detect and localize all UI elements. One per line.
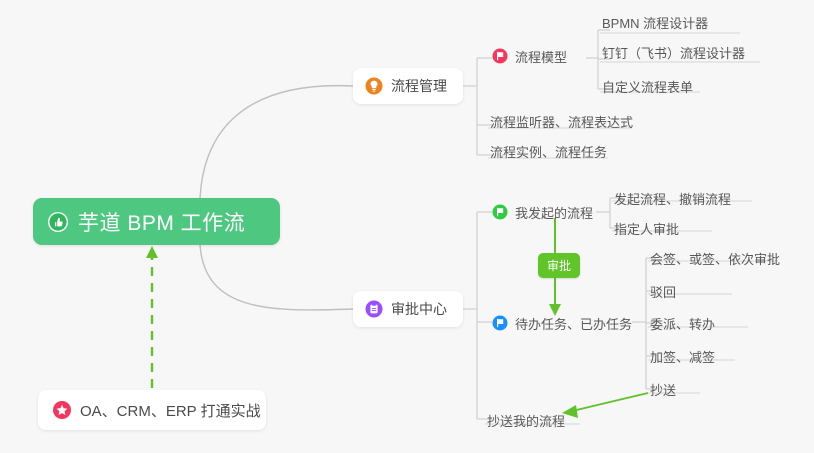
lightbulb-icon bbox=[365, 77, 383, 95]
leaf-process-instance[interactable]: 流程实例、流程任务 bbox=[490, 141, 607, 161]
branch-node-process-mgmt[interactable]: 流程管理 bbox=[353, 68, 463, 104]
leaf-label: 发起流程、撤销流程 bbox=[614, 189, 731, 208]
approval-tag-label: 审批 bbox=[547, 259, 571, 273]
flag-icon bbox=[492, 315, 508, 331]
leaf-label: 我发起的流程 bbox=[515, 203, 593, 222]
leaf-label: 流程模型 bbox=[515, 47, 567, 66]
star-icon bbox=[52, 400, 72, 420]
flag-icon bbox=[492, 204, 508, 220]
leaf-label: 自定义流程表单 bbox=[602, 77, 693, 96]
leaf-label: 抄送 bbox=[650, 380, 676, 399]
leaf-label: 流程实例、流程任务 bbox=[490, 142, 607, 161]
leaf-process-listener[interactable]: 流程监听器、流程表达式 bbox=[490, 111, 633, 131]
leaf-label: 驳回 bbox=[650, 282, 676, 301]
branch-node-approval-center[interactable]: 审批中心 bbox=[353, 291, 463, 327]
leaf-bpmn-designer[interactable]: BPMN 流程设计器 bbox=[602, 12, 708, 32]
leaf-carbon-copy[interactable]: 抄送 bbox=[650, 379, 676, 399]
thumbs-up-icon bbox=[47, 211, 69, 233]
leaf-label: 待办任务、已办任务 bbox=[515, 314, 632, 333]
leaf-label: 会签、或签、依次审批 bbox=[650, 249, 780, 268]
leaf-dingtalk-designer[interactable]: 钉钉（飞书）流程设计器 bbox=[602, 42, 745, 62]
leaf-process-model[interactable]: 流程模型 bbox=[492, 46, 567, 66]
note-icon bbox=[365, 300, 383, 318]
integration-node[interactable]: OA、CRM、ERP 打通实战 bbox=[38, 390, 266, 430]
leaf-label: 流程监听器、流程表达式 bbox=[490, 112, 633, 131]
leaf-label: BPMN 流程设计器 bbox=[602, 13, 708, 32]
branch-label-approval-center: 审批中心 bbox=[391, 299, 447, 319]
integration-label: OA、CRM、ERP 打通实战 bbox=[80, 400, 261, 421]
leaf-delegate-transfer[interactable]: 委派、转办 bbox=[650, 313, 715, 333]
mindmap-canvas: 芋道 BPM 工作流 流程管理 审批中心 bbox=[0, 0, 814, 453]
leaf-label: 指定人审批 bbox=[614, 219, 679, 238]
leaf-label: 钉钉（飞书）流程设计器 bbox=[602, 43, 745, 62]
leaf-label: 抄送我的流程 bbox=[487, 411, 565, 430]
leaf-label: 加签、减签 bbox=[650, 347, 715, 366]
leaf-add-remove-sign[interactable]: 加签、减签 bbox=[650, 346, 715, 366]
leaf-my-initiated[interactable]: 我发起的流程 bbox=[492, 202, 593, 222]
root-node[interactable]: 芋道 BPM 工作流 bbox=[33, 198, 280, 245]
leaf-reject[interactable]: 驳回 bbox=[650, 281, 676, 301]
leaf-label: 委派、转办 bbox=[650, 314, 715, 333]
leaf-custom-form[interactable]: 自定义流程表单 bbox=[602, 76, 693, 96]
leaf-multi-sign[interactable]: 会签、或签、依次审批 bbox=[650, 248, 780, 268]
flag-icon bbox=[492, 48, 508, 64]
approval-tag-badge[interactable]: 审批 bbox=[538, 253, 580, 278]
leaf-todo-done-tasks[interactable]: 待办任务、已办任务 bbox=[492, 313, 632, 333]
branch-label-process-mgmt: 流程管理 bbox=[391, 76, 447, 96]
leaf-cc-to-me[interactable]: 抄送我的流程 bbox=[487, 410, 565, 430]
root-label: 芋道 BPM 工作流 bbox=[78, 207, 245, 237]
leaf-assignee-approval[interactable]: 指定人审批 bbox=[614, 218, 679, 238]
leaf-start-cancel-process[interactable]: 发起流程、撤销流程 bbox=[614, 188, 731, 208]
